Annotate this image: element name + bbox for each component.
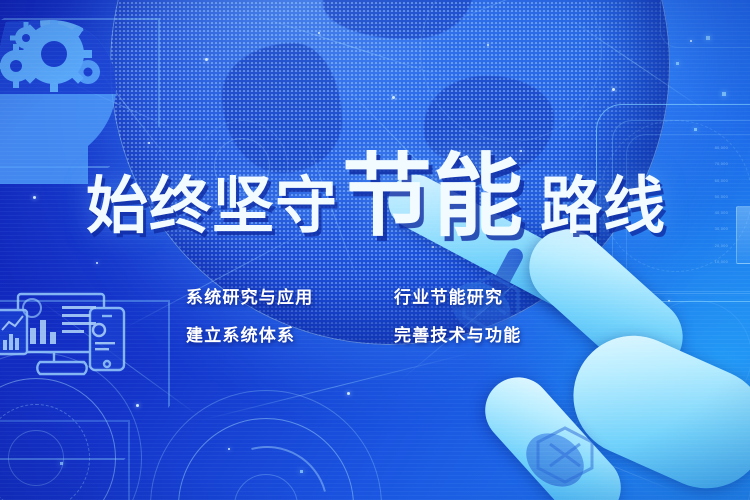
robot-hand-graphic xyxy=(420,210,750,500)
devices-dashboard-icon xyxy=(0,288,171,408)
subtitle-item-2: 行业节能研究 xyxy=(394,283,556,308)
headline-segment-1: 始终坚守 xyxy=(86,176,338,238)
subtitle-item-3: 建立系统体系 xyxy=(186,321,394,346)
banner-canvas: 80,00070,00060,00050,00040,00030,00020,0… xyxy=(0,0,750,500)
page-title: 始终坚守 节能 路线 xyxy=(86,152,666,242)
headline-segment-highlight: 节能 xyxy=(342,152,524,242)
hud-scale-tick: 70,000 xyxy=(715,162,728,166)
hud-scale-tick: 60,000 xyxy=(715,179,728,183)
subtitle-item-1: 系统研究与应用 xyxy=(186,283,394,308)
hud-scale-tick: 50,000 xyxy=(715,195,728,199)
hud-scale-tick: 80,000 xyxy=(715,146,728,150)
subtitle-grid: 系统研究与应用 行业节能研究 建立系统体系 完善技术与功能 xyxy=(186,283,556,346)
headline-segment-3: 路线 xyxy=(540,176,666,238)
subtitle-item-4: 完善技术与功能 xyxy=(394,321,556,346)
